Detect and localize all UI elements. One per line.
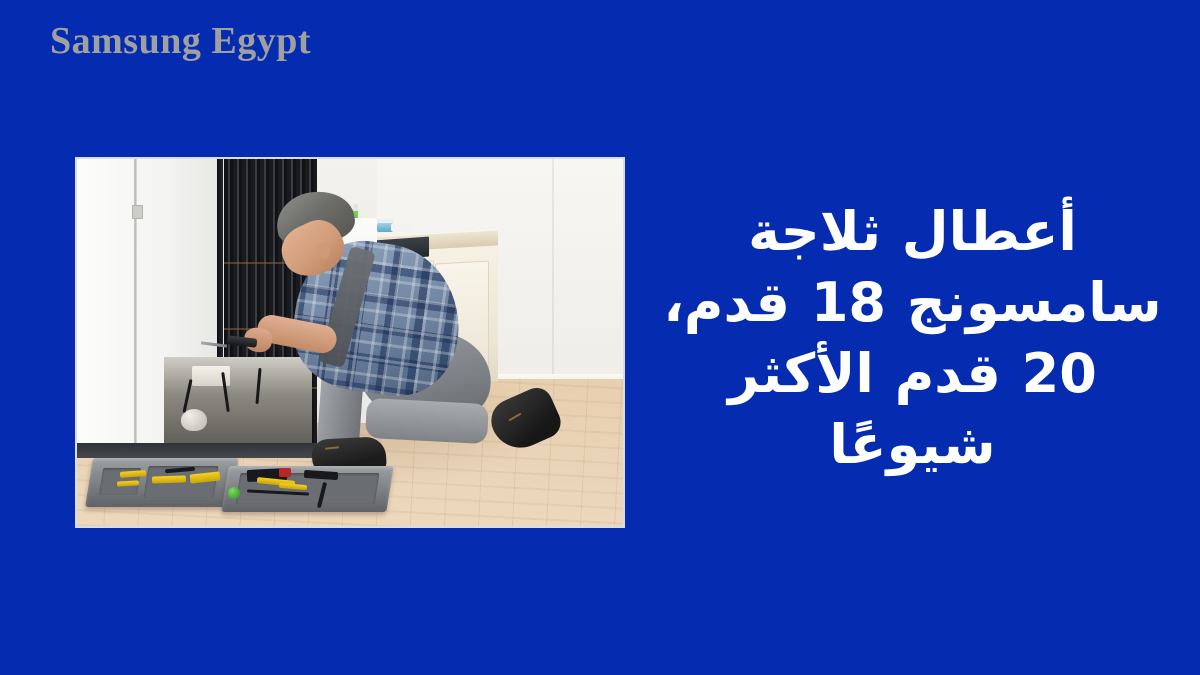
- tool-green-knob: [228, 487, 240, 499]
- technician-back-leg: [365, 398, 489, 444]
- poster-canvas: Samsung Egypt: [0, 0, 1200, 675]
- tool-yellow-handle: [117, 480, 139, 486]
- brand-logo: Samsung Egypt: [50, 21, 311, 63]
- work-boot-back: [484, 383, 565, 457]
- toolbox: [82, 454, 399, 516]
- screwdriver-shaft: [201, 342, 227, 348]
- headline-text: أعطال ثلاجة سامسونج 18 قدم، 20 قدم الأكث…: [640, 196, 1185, 480]
- screwdriver-handle: [227, 336, 258, 349]
- tool-red-part: [279, 468, 291, 477]
- repair-photo: [77, 159, 623, 526]
- tool-yellow-handle: [152, 475, 186, 483]
- tool-dark: [304, 469, 338, 479]
- photo-frame: [75, 157, 625, 528]
